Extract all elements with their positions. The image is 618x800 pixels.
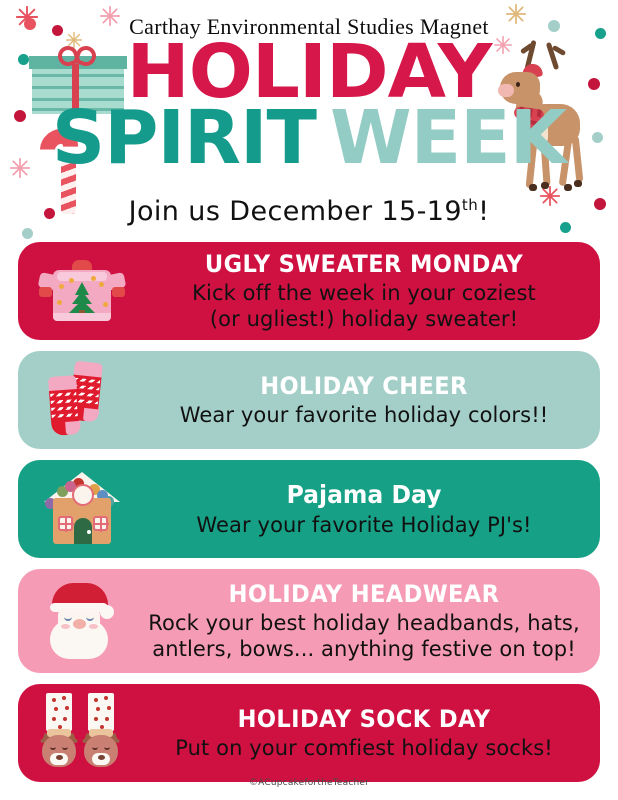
card-text-block: HOLIDAY HEADWEARRock your best holiday h… bbox=[146, 580, 600, 662]
card-description: Kick off the week in your coziest(or ugl… bbox=[146, 281, 582, 331]
flyer-header: Carthay Environmental Studies Magnet HOL… bbox=[0, 0, 618, 240]
card-description: Put on your comfiest holiday socks! bbox=[146, 736, 582, 761]
card-description-line: Put on your comfiest holiday socks! bbox=[146, 736, 582, 761]
gingerbread-house-icon bbox=[18, 460, 146, 558]
card-description: Wear your favorite holiday colors!! bbox=[146, 403, 582, 428]
card-title: HOLIDAY CHEER bbox=[159, 372, 569, 400]
title-word-holiday: HOLIDAY bbox=[0, 38, 618, 107]
spirit-day-card-list: UGLY SWEATER MONDAYKick off the week in … bbox=[0, 242, 618, 793]
footer-credit: ©ACupcakefortheTeacher bbox=[0, 778, 618, 788]
card-description-line: Wear your favorite holiday colors!! bbox=[146, 403, 582, 428]
spirit-day-card[interactable]: HOLIDAY CHEERWear your favorite holiday … bbox=[18, 351, 600, 449]
card-text-block: Pajama DayWear your favorite Holiday PJ'… bbox=[146, 480, 600, 538]
date-text: Join us December 15-19 bbox=[129, 196, 462, 227]
school-name: Carthay Environmental Studies Magnet bbox=[0, 14, 618, 40]
santa-face-icon bbox=[18, 569, 146, 673]
reindeer-socks-icon bbox=[18, 684, 146, 782]
decorative-dot bbox=[22, 228, 33, 239]
card-description-line: Wear your favorite Holiday PJ's! bbox=[146, 513, 582, 538]
card-title: HOLIDAY SOCK DAY bbox=[159, 705, 569, 733]
card-description-line: Kick off the week in your coziest bbox=[146, 281, 582, 306]
card-title: Pajama Day bbox=[159, 480, 569, 510]
date-subtitle: Join us December 15-19th! bbox=[0, 196, 618, 227]
spirit-day-card[interactable]: HOLIDAY HEADWEARRock your best holiday h… bbox=[18, 569, 600, 673]
holiday-spirit-week-flyer: Carthay Environmental Studies Magnet HOL… bbox=[0, 0, 618, 800]
card-title: HOLIDAY HEADWEAR bbox=[159, 580, 569, 608]
date-exclamation: ! bbox=[478, 196, 489, 227]
card-description-line: (or ugliest!) holiday sweater! bbox=[146, 307, 582, 332]
date-ordinal-suffix: th bbox=[462, 196, 478, 214]
card-title: UGLY SWEATER MONDAY bbox=[159, 250, 569, 278]
card-description-line: Rock your best holiday headbands, hats, bbox=[146, 611, 582, 636]
spirit-day-card[interactable]: Pajama DayWear your favorite Holiday PJ'… bbox=[18, 460, 600, 558]
flyer-title: HOLIDAY SPIRITWEEK bbox=[0, 38, 618, 173]
spirit-day-card[interactable]: HOLIDAY SOCK DAYPut on your comfiest hol… bbox=[18, 684, 600, 782]
card-text-block: HOLIDAY CHEERWear your favorite holiday … bbox=[146, 372, 600, 429]
card-description: Wear your favorite Holiday PJ's! bbox=[146, 513, 582, 538]
card-text-block: UGLY SWEATER MONDAYKick off the week in … bbox=[146, 250, 600, 332]
card-description-line: antlers, bows... anything festive on top… bbox=[146, 637, 582, 662]
holiday-socks-icon bbox=[18, 351, 146, 449]
ugly-sweater-icon bbox=[18, 242, 146, 340]
card-description: Rock your best holiday headbands, hats,a… bbox=[146, 611, 582, 661]
card-text-block: HOLIDAY SOCK DAYPut on your comfiest hol… bbox=[146, 705, 600, 762]
spirit-day-card[interactable]: UGLY SWEATER MONDAYKick off the week in … bbox=[18, 242, 600, 340]
